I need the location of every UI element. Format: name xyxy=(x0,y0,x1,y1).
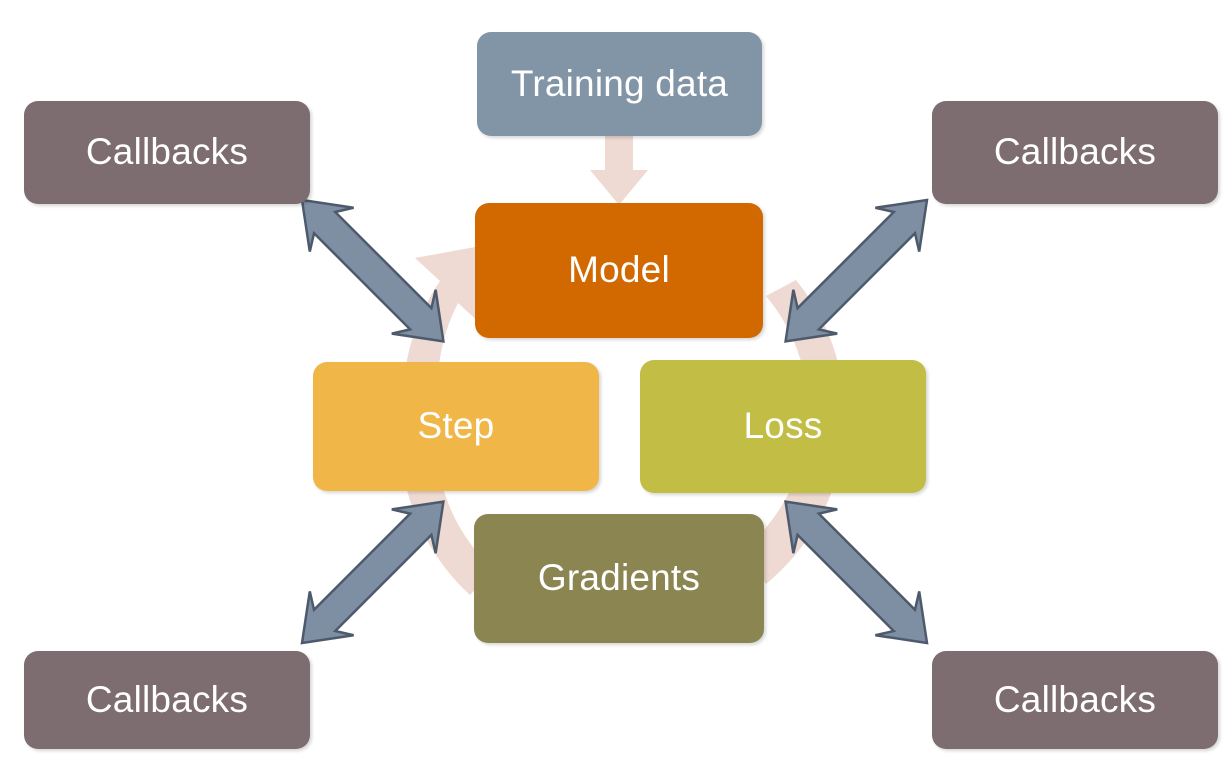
node-loss-label: Loss xyxy=(640,406,926,447)
node-loss[interactable]: Loss xyxy=(640,360,926,493)
node-model[interactable]: Model xyxy=(475,203,763,338)
node-gradients[interactable]: Gradients xyxy=(474,514,764,643)
node-callbacks-bottom-left[interactable]: Callbacks xyxy=(24,651,310,749)
callback-arrow-top-left xyxy=(280,178,465,363)
node-training-data-label: Training data xyxy=(477,64,762,105)
node-step-label: Step xyxy=(313,406,599,447)
callback-arrow-bottom-right xyxy=(764,480,949,665)
callback-arrow-bottom-left xyxy=(280,480,465,665)
node-callbacks-top-right[interactable]: Callbacks xyxy=(932,101,1218,204)
diagram-canvas: Training data Model Step Loss Gradients … xyxy=(0,0,1229,777)
training-data-to-model-arrow xyxy=(590,136,648,205)
node-callbacks-top-left[interactable]: Callbacks xyxy=(24,101,310,204)
callback-arrow-top-right xyxy=(764,178,949,363)
node-gradients-label: Gradients xyxy=(474,558,764,599)
node-callbacks-top-left-label: Callbacks xyxy=(24,132,310,173)
node-model-label: Model xyxy=(475,250,763,291)
node-callbacks-top-right-label: Callbacks xyxy=(932,132,1218,173)
node-callbacks-bottom-right-label: Callbacks xyxy=(932,680,1218,721)
node-callbacks-bottom-right[interactable]: Callbacks xyxy=(932,651,1218,749)
node-step[interactable]: Step xyxy=(313,362,599,491)
node-callbacks-bottom-left-label: Callbacks xyxy=(24,680,310,721)
node-training-data[interactable]: Training data xyxy=(477,32,762,136)
